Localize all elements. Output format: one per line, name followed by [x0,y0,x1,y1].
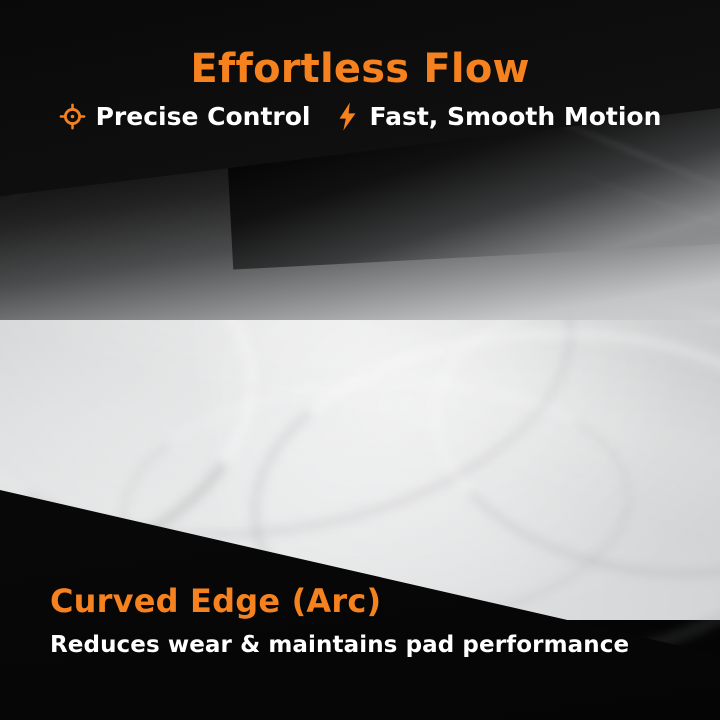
crosshair-target-icon [59,103,86,130]
page-title: Effortless Flow [0,48,720,90]
feature-list: Precise Control Fast, Smooth Motion [0,102,720,131]
feature-label-precise-control: Precise Control [96,102,311,131]
bottom-banner-content: Curved Edge (Arc) Reduces wear & maintai… [50,584,629,658]
feature-label-fast-smooth-motion: Fast, Smooth Motion [369,102,661,131]
lightning-bolt-icon [336,102,359,131]
bottom-headline: Curved Edge (Arc) [50,584,629,619]
bottom-description: Reduces wear & maintains pad performance [50,632,629,658]
product-feature-graphic: Effortless Flow Precise Control [0,0,720,720]
top-banner-content: Effortless Flow Precise Control [0,48,720,131]
